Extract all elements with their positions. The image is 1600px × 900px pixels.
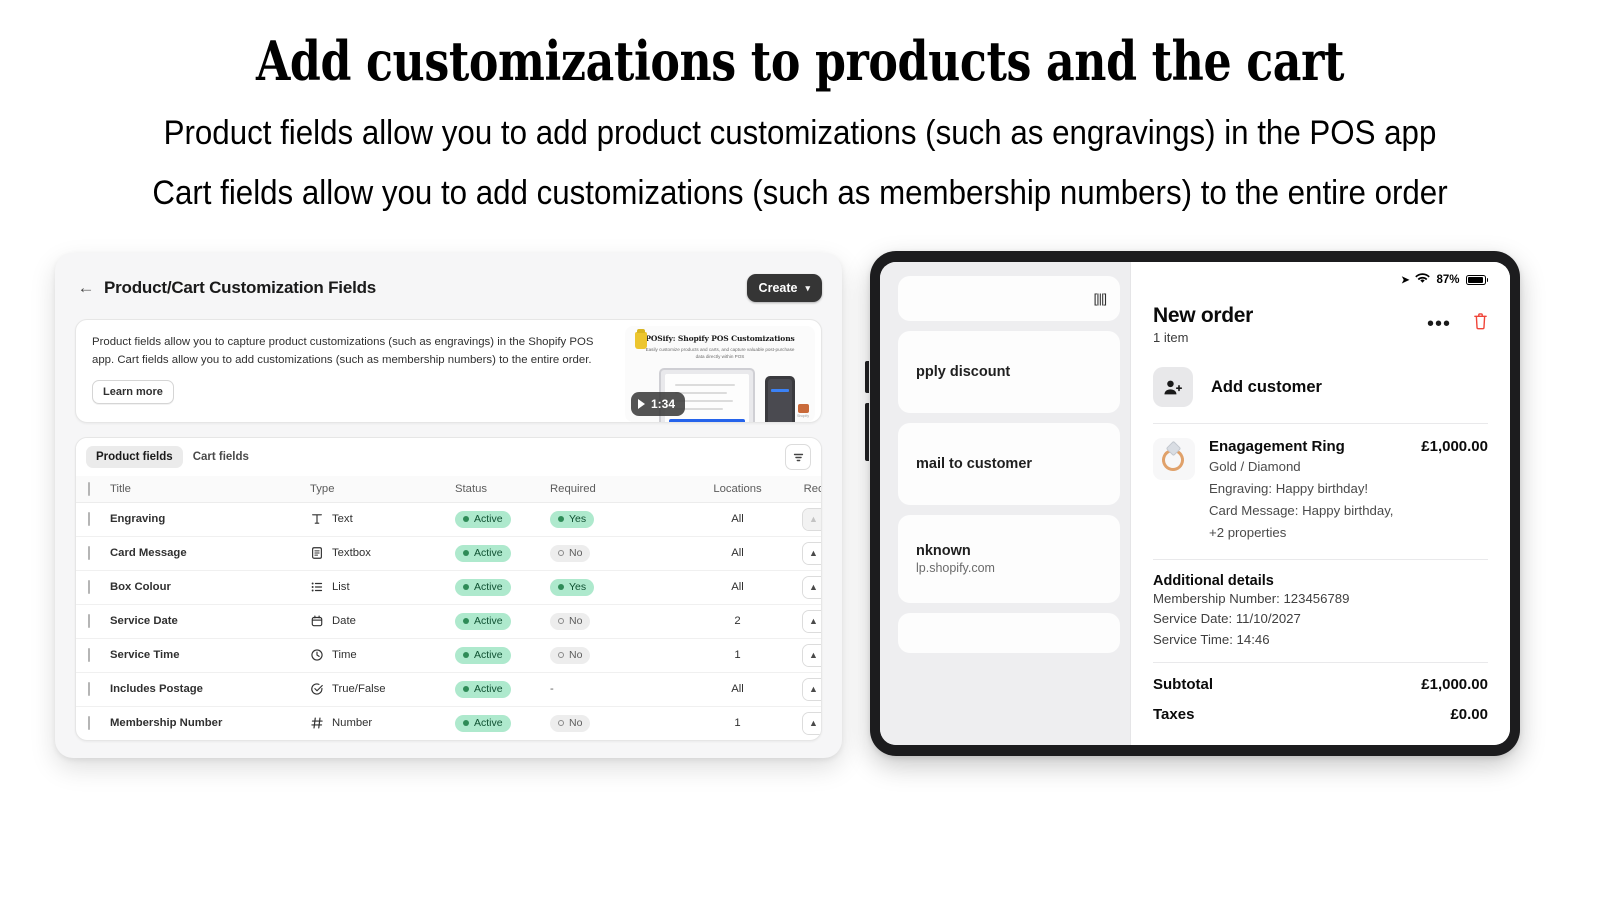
- add-customer-label: Add customer: [1211, 378, 1322, 397]
- row-status: Active: [455, 536, 550, 570]
- move-up-button[interactable]: ▲: [803, 577, 822, 598]
- check-circle-icon: [310, 682, 324, 696]
- taxes-value: £0.00: [1450, 706, 1488, 723]
- row-checkbox[interactable]: [88, 648, 90, 662]
- filter-button[interactable]: [785, 444, 811, 470]
- row-select-cell: [76, 570, 110, 604]
- shopify-help-label: lp.shopify.com: [916, 561, 995, 575]
- row-reorder: ▲▼: [785, 536, 822, 570]
- row-type-label: True/False: [332, 683, 386, 695]
- row-select-cell: [76, 536, 110, 570]
- required-badge: No: [550, 545, 590, 562]
- status-badge: Active: [455, 647, 511, 664]
- row-title: Includes Postage: [110, 672, 310, 706]
- status-badge: Active: [455, 681, 511, 698]
- column-header-status: Status: [455, 476, 550, 502]
- add-customer-row[interactable]: Add customer: [1153, 367, 1488, 424]
- info-banner: Product fields allow you to capture prod…: [75, 319, 822, 423]
- thumbnail-phone-illustration: [765, 376, 795, 422]
- status-badge: Active: [455, 613, 511, 630]
- shopify-logo: Shopify: [797, 404, 809, 418]
- product-price: £1,000.00: [1421, 438, 1488, 455]
- row-checkbox[interactable]: [88, 716, 90, 730]
- move-up-button[interactable]: ▲: [803, 713, 822, 734]
- table-row[interactable]: Box ColourListActiveYesAll▲▼: [76, 570, 822, 604]
- list-icon: [310, 580, 324, 594]
- video-duration: 1:34: [651, 397, 675, 411]
- row-required: Yes: [550, 570, 690, 604]
- row-type: Time: [310, 638, 455, 672]
- row-locations: All: [690, 570, 785, 604]
- row-select-cell: [76, 672, 110, 706]
- play-button[interactable]: 1:34: [631, 392, 685, 416]
- email-customer-card[interactable]: mail to customer: [898, 423, 1120, 505]
- row-required: No: [550, 706, 690, 740]
- learn-more-button[interactable]: Learn more: [92, 380, 174, 404]
- row-type-label: List: [332, 581, 350, 593]
- hash-icon: [310, 716, 324, 730]
- row-type-label: Number: [332, 717, 372, 729]
- row-type-label: Time: [332, 649, 357, 661]
- row-checkbox[interactable]: [88, 682, 90, 696]
- row-select-cell: [76, 706, 110, 740]
- required-badge: Yes: [550, 579, 594, 596]
- thumbnail-title: POSify: Shopify POS Customizations: [625, 334, 815, 343]
- column-header-title: Title: [110, 476, 310, 502]
- banner-description: Product fields allow you to capture prod…: [92, 334, 609, 369]
- order-actions: •••: [1427, 304, 1488, 335]
- detail-membership-number: Membership Number: 123456789: [1153, 589, 1488, 609]
- create-button[interactable]: Create ▾: [747, 274, 822, 302]
- shopify-logo-label: Shopify: [797, 414, 809, 418]
- table-body: EngravingTextActiveYesAll▲▼Card MessageT…: [76, 502, 822, 740]
- row-status: Active: [455, 570, 550, 604]
- thumbnail-subtitle: Easily customize products and carts, and…: [625, 347, 815, 361]
- apply-discount-card[interactable]: pply discount: [898, 331, 1120, 413]
- product-more-properties: +2 properties: [1209, 523, 1488, 543]
- move-up-button: ▲: [803, 509, 822, 530]
- pos-screen: [|||] pply discount mail to customer nkn…: [880, 262, 1510, 745]
- row-reorder: ▲▼: [785, 502, 822, 536]
- table-row[interactable]: Service TimeTimeActiveNo1▲▼: [76, 638, 822, 672]
- row-status: Active: [455, 502, 550, 536]
- hero-subtitle-2: Cart fields allow you to add customizati…: [64, 172, 1536, 216]
- order-title: New order: [1153, 304, 1253, 328]
- row-checkbox[interactable]: [88, 512, 90, 526]
- row-required: -: [550, 672, 690, 706]
- move-up-button[interactable]: ▲: [803, 679, 822, 700]
- status-badge: Active: [455, 545, 511, 562]
- product-property-engraving: Engraving: Happy birthday!: [1209, 479, 1488, 499]
- pos-left-panel: [|||] pply discount mail to customer nkn…: [880, 262, 1130, 745]
- row-type-label: Date: [332, 615, 356, 627]
- row-type-label: Text: [332, 513, 353, 525]
- scan-card[interactable]: [|||]: [898, 276, 1120, 321]
- order-item-count: 1 item: [1153, 330, 1253, 345]
- order-header: New order 1 item •••: [1153, 304, 1488, 345]
- unknown-label: nknown: [916, 543, 971, 559]
- play-icon: [638, 399, 645, 409]
- admin-window: ← Product/Cart Customization Fields Crea…: [55, 253, 842, 758]
- additional-details-section: Additional details Membership Number: 12…: [1153, 560, 1488, 662]
- row-title: Membership Number: [110, 706, 310, 740]
- pos-tablet-device: [|||] pply discount mail to customer nkn…: [870, 251, 1520, 756]
- column-header-locations: Locations: [690, 476, 785, 502]
- text-icon: [310, 512, 324, 526]
- move-up-button[interactable]: ▲: [803, 645, 822, 666]
- subtotal-label: Subtotal: [1153, 676, 1213, 693]
- banner-text-area: Product fields allow you to capture prod…: [76, 320, 625, 422]
- product-variant: Gold / Diamond: [1209, 457, 1488, 477]
- tab-product-fields[interactable]: Product fields: [86, 446, 183, 468]
- row-required: No: [550, 604, 690, 638]
- row-checkbox[interactable]: [88, 580, 90, 594]
- row-type: Textbox: [310, 536, 455, 570]
- admin-page-title: Product/Cart Customization Fields: [104, 278, 376, 298]
- row-reorder: ▲▼: [785, 570, 822, 604]
- row-reorder: ▲▼: [785, 672, 822, 706]
- pos-cart-panel: ➤ 87% New order: [1130, 262, 1510, 745]
- required-badge: Yes: [550, 511, 594, 528]
- tabs-row: Product fields Cart fields: [76, 438, 821, 476]
- row-title: Card Message: [110, 536, 310, 570]
- row-type: List: [310, 570, 455, 604]
- location-arrow-icon: ➤: [1401, 275, 1409, 286]
- pos-extra-card[interactable]: [898, 613, 1120, 653]
- clock-icon: [310, 648, 324, 662]
- email-customer-label: mail to customer: [916, 456, 1032, 472]
- row-select-cell: [76, 604, 110, 638]
- required-badge: No: [550, 715, 590, 732]
- product-property-card-message: Card Message: Happy birthday,: [1209, 501, 1488, 521]
- row-type: Date: [310, 604, 455, 638]
- detail-service-date: Service Date: 11/10/2027: [1153, 609, 1488, 629]
- battery-icon: [1466, 275, 1489, 285]
- fields-table-card: Product fields Cart fields: [75, 437, 822, 741]
- column-header-required: Required: [550, 476, 690, 502]
- create-button-label: Create: [759, 281, 798, 295]
- column-header-type: Type: [310, 476, 455, 502]
- row-locations: All: [690, 536, 785, 570]
- hero-section: Add customizations to products and the c…: [0, 0, 1600, 215]
- row-title: Service Time: [110, 638, 310, 672]
- status-bar: ➤ 87%: [1153, 272, 1488, 288]
- detail-service-time: Service Time: 14:46: [1153, 630, 1488, 650]
- subtotal-row: Subtotal £1,000.00: [1153, 663, 1488, 693]
- row-locations: 1: [690, 706, 785, 740]
- status-badge: Active: [455, 579, 511, 596]
- apply-discount-label: pply discount: [916, 364, 1010, 380]
- row-select-cell: [76, 638, 110, 672]
- app-icon: [635, 332, 647, 349]
- barcode-scan-icon: [|||]: [1094, 291, 1106, 306]
- wifi-icon: [1415, 273, 1430, 287]
- additional-details-heading: Additional details: [1153, 573, 1488, 589]
- row-type-label: Textbox: [332, 547, 371, 559]
- table-row[interactable]: Service DateDateActiveNo2▲▼: [76, 604, 822, 638]
- row-reorder: ▲▼: [785, 638, 822, 672]
- select-all-checkbox[interactable]: [88, 482, 90, 496]
- move-up-button[interactable]: ▲: [803, 543, 822, 564]
- fields-table: Title Type Status Required Locations Reo…: [76, 476, 822, 740]
- add-customer-icon: [1153, 367, 1193, 407]
- row-required: No: [550, 638, 690, 672]
- row-locations: All: [690, 502, 785, 536]
- move-up-button[interactable]: ▲: [803, 611, 822, 632]
- row-locations: All: [690, 672, 785, 706]
- chevron-down-icon: ▾: [805, 283, 810, 294]
- row-reorder: ▲▼: [785, 604, 822, 638]
- back-arrow-icon[interactable]: ←: [75, 277, 97, 299]
- table-row[interactable]: Card MessageTextboxActiveNoAll▲▼: [76, 536, 822, 570]
- device-stage: ← Product/Cart Customization Fields Crea…: [0, 243, 1600, 803]
- row-status: Active: [455, 706, 550, 740]
- table-header: Title Type Status Required Locations Reo…: [76, 476, 822, 502]
- more-options-icon[interactable]: •••: [1427, 320, 1451, 328]
- row-locations: 1: [690, 638, 785, 672]
- row-title: Service Date: [110, 604, 310, 638]
- filter-icon: [792, 451, 805, 464]
- delete-order-icon[interactable]: [1473, 312, 1488, 335]
- row-reorder: ▲▼: [785, 706, 822, 740]
- calendar-icon: [310, 614, 324, 628]
- video-thumbnail[interactable]: POSify: Shopify POS Customizations Easil…: [625, 326, 815, 422]
- row-title: Engraving: [110, 502, 310, 536]
- trash-icon: [1473, 312, 1488, 330]
- taxes-row: Taxes £0.00: [1153, 693, 1488, 723]
- row-select-cell: [76, 502, 110, 536]
- row-required: No: [550, 536, 690, 570]
- taxes-label: Taxes: [1153, 706, 1194, 723]
- table-row[interactable]: Includes PostageTrue/FalseActive-All▲▼: [76, 672, 822, 706]
- row-status: Active: [455, 672, 550, 706]
- status-badge: Active: [455, 511, 511, 528]
- battery-percentage: 87%: [1436, 274, 1459, 286]
- row-checkbox[interactable]: [88, 546, 90, 560]
- required-badge: No: [550, 613, 590, 630]
- row-type: Text: [310, 502, 455, 536]
- unknown-customer-card[interactable]: nknown lp.shopify.com: [898, 515, 1120, 603]
- row-locations: 2: [690, 604, 785, 638]
- tab-cart-fields[interactable]: Cart fields: [183, 446, 259, 468]
- required-badge: -: [550, 683, 554, 695]
- page-title: Add customizations to products and the c…: [144, 30, 1456, 92]
- row-status: Active: [455, 604, 550, 638]
- row-checkbox[interactable]: [88, 614, 90, 628]
- subtotal-value: £1,000.00: [1421, 676, 1488, 693]
- table-row[interactable]: Membership NumberNumberActiveNo1▲▼: [76, 706, 822, 740]
- product-thumbnail: [1153, 438, 1195, 480]
- admin-topbar: ← Product/Cart Customization Fields Crea…: [75, 271, 822, 305]
- textbox-icon: [310, 546, 324, 560]
- select-all-header: [76, 476, 110, 502]
- row-required: Yes: [550, 502, 690, 536]
- status-badge: Active: [455, 715, 511, 732]
- row-status: Active: [455, 638, 550, 672]
- row-type: True/False: [310, 672, 455, 706]
- row-title: Box Colour: [110, 570, 310, 604]
- cart-line-item[interactable]: Enagagement Ring £1,000.00 Gold / Diamon…: [1153, 424, 1488, 560]
- hero-subtitle-1: Product fields allow you to add product …: [64, 112, 1536, 156]
- required-badge: No: [550, 647, 590, 664]
- table-row[interactable]: EngravingTextActiveYesAll▲▼: [76, 502, 822, 536]
- product-name: Enagagement Ring: [1209, 438, 1345, 455]
- row-type: Number: [310, 706, 455, 740]
- column-header-reorder: Reorder: [785, 476, 822, 502]
